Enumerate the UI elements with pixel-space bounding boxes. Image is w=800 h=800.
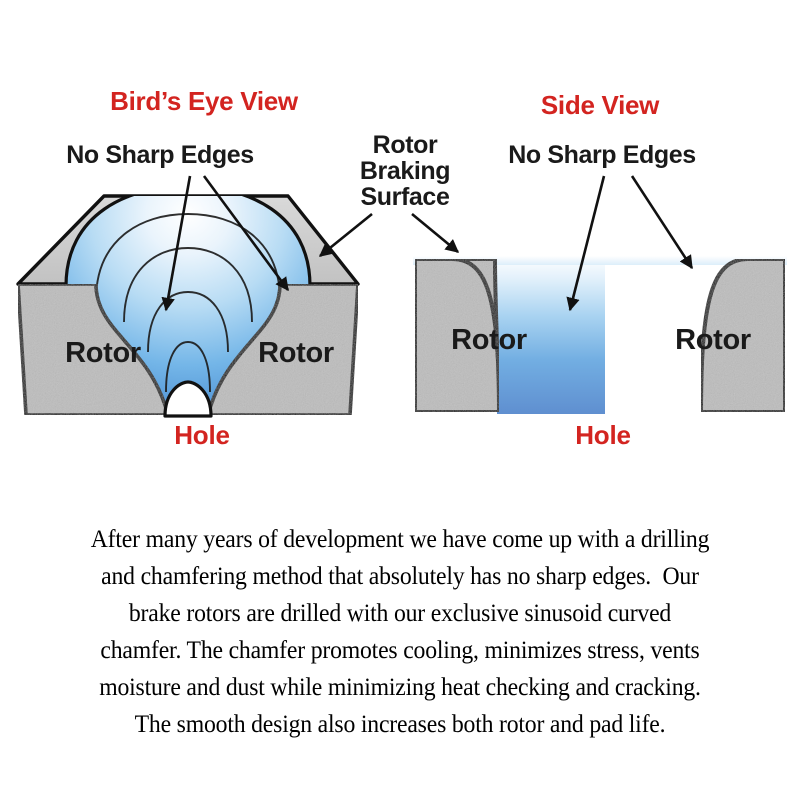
callout-line-2: Braking [360,157,450,185]
hole-label-birds-eye: Hole [174,420,230,450]
side-view-title: Side View [541,90,660,120]
callout-line-3: Surface [361,183,450,211]
caption-line: After many years of development we have … [28,520,772,557]
rotor-label-left-birds-eye: Rotor [65,337,141,369]
pointer-no-sharp-edges-right-b [632,176,692,268]
birds-eye-view-group: Bird’s Eye View No Sharp Edges Rotor Rot… [18,86,358,450]
caption-line: The smooth design also increases both ro… [28,705,772,742]
caption-line: brake rotors are drilled with our exclus… [28,594,772,631]
rotor-label-left-side-view: Rotor [451,324,527,356]
pointer-braking-surface-to-side-view [412,214,458,252]
rotor-chamfer-diagram: Bird’s Eye View No Sharp Edges Rotor Rot… [0,0,800,500]
rotor-label-right-birds-eye: Rotor [258,337,334,369]
pointer-braking-surface-to-birds-eye [320,214,372,256]
no-sharp-edges-label-left: No Sharp Edges [66,141,254,169]
birds-eye-view-title: Bird’s Eye View [110,86,299,116]
caption-line: chamfer. The chamfer promotes cooling, m… [28,631,772,668]
rotor-label-right-side-view: Rotor [675,324,751,356]
callout-line-1: Rotor [373,131,438,159]
side-view-group: Side View No Sharp Edges Rotor Rotor Hol… [413,90,787,450]
rotor-braking-surface-callout: Rotor Braking Surface [320,131,458,256]
caption-paragraph: After many years of development we have … [0,520,800,742]
hole-label-side-view: Hole [575,420,631,450]
no-sharp-edges-label-right: No Sharp Edges [508,141,696,169]
figure-canvas: Bird’s Eye View No Sharp Edges Rotor Rot… [0,0,800,800]
caption-line: moisture and dust while minimizing heat … [28,668,772,705]
caption-line: and chamfering method that absolutely ha… [28,557,772,594]
